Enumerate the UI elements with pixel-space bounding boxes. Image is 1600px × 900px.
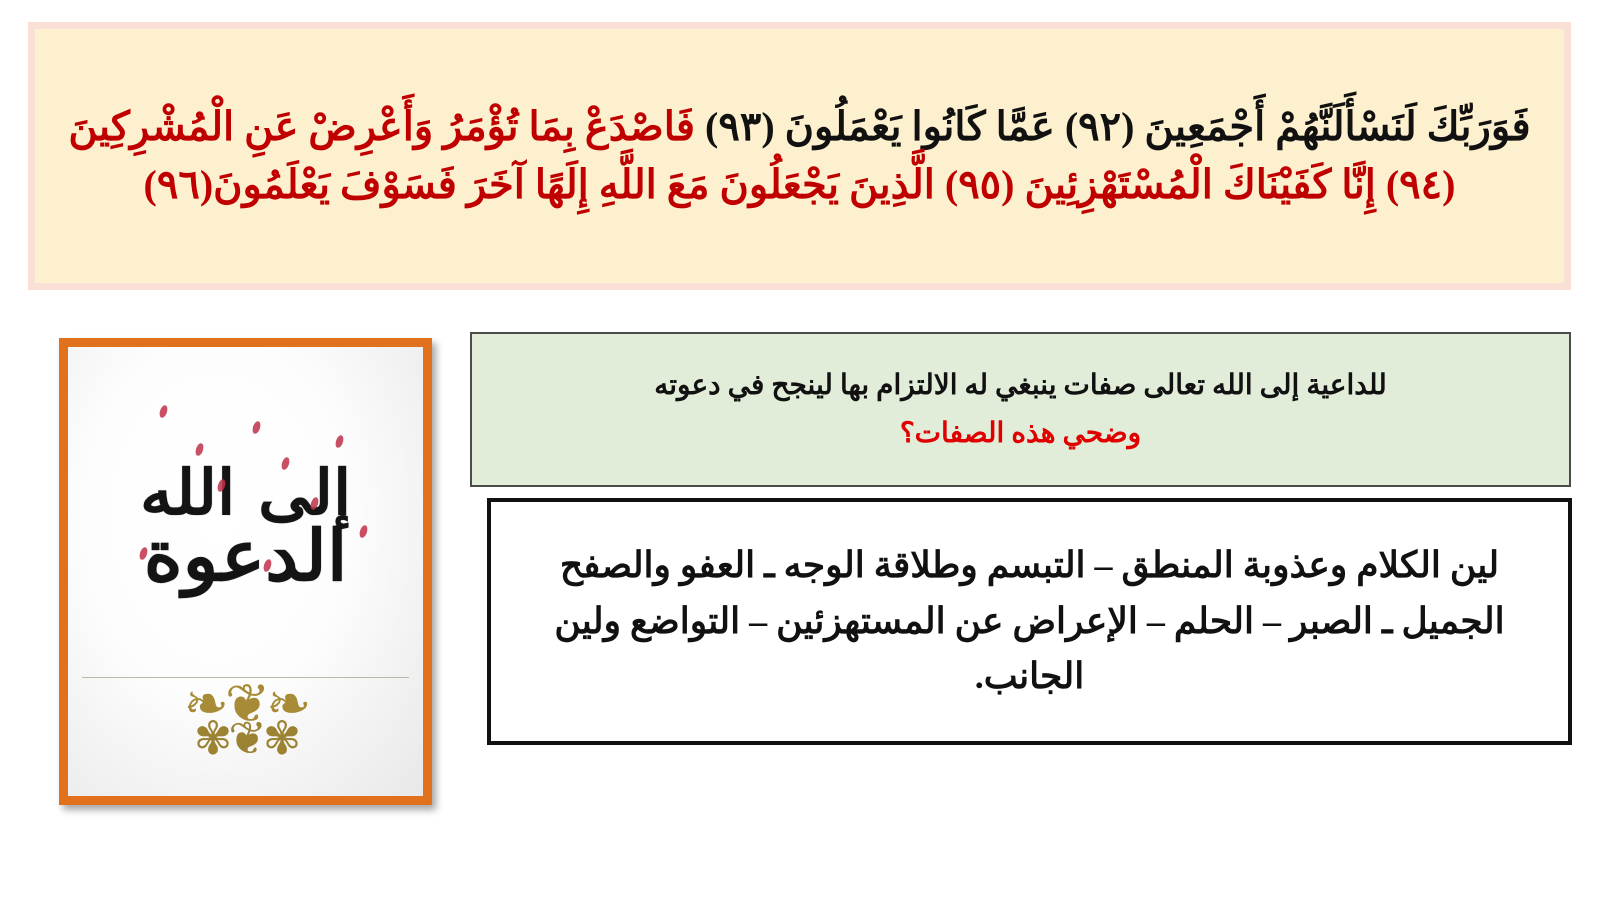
answer-box: لين الكلام وعذوبة المنطق – التبسم وطلاقة… — [487, 498, 1572, 745]
quran-verse-banner: فَوَرَبِّكَ لَنَسْأَلَنَّهُمْ أَجْمَعِين… — [28, 22, 1571, 290]
calligraphy-image: إلى الله الدعوة ❧❦❧ ✾❦✾ — [68, 347, 423, 796]
calligraphy-artwork: إلى الله الدعوة — [68, 381, 423, 671]
calligraphy-ornament: ❧❦❧ ✾❦✾ — [68, 677, 423, 787]
calligraphy-word-bottom: الدعوة — [140, 519, 351, 593]
question-box: للداعية إلى الله تعالى صفات ينبغي له الا… — [470, 332, 1571, 487]
quran-verse-text: فَوَرَبِّكَ لَنَسْأَلَنَّهُمْ أَجْمَعِين… — [53, 98, 1546, 214]
question-statement: للداعية إلى الله تعالى صفات ينبغي له الا… — [488, 365, 1553, 407]
calligraphy-glyph-line: إلى الله الدعوة — [140, 460, 351, 593]
question-prompt: وضحي هذه الصفات؟ — [488, 413, 1553, 455]
answer-text: لين الكلام وعذوبة المنطق – التبسم وطلاقة… — [517, 538, 1542, 705]
calligraphy-image-frame: إلى الله الدعوة ❧❦❧ ✾❦✾ — [59, 338, 432, 805]
ornament-row-2: ✾❦✾ — [194, 715, 298, 761]
quran-verse-black-segment: فَوَرَبِّكَ لَنَسْأَلَنَّهُمْ أَجْمَعِين… — [705, 104, 1531, 149]
